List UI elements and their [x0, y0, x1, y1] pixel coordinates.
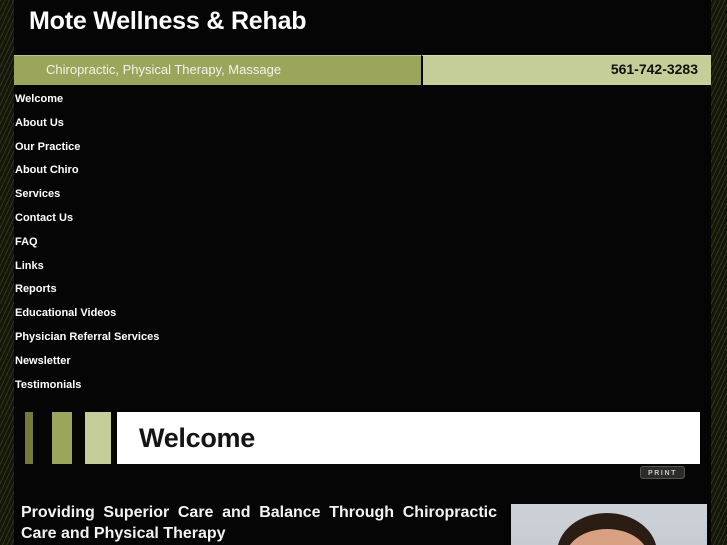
accent-bar-light [85, 412, 111, 464]
nav-item-contact-us[interactable]: Contact Us [14, 211, 294, 235]
intro-heading: Providing Superior Care and Balance Thro… [21, 502, 497, 544]
accent-bar-dark [25, 412, 33, 464]
intro-heading-line1: Providing Superior Care and Balance Thro… [21, 504, 394, 521]
tagline-bar: Chiropractic, Physical Therapy, Massage [14, 55, 421, 85]
right-edge-texture [711, 0, 727, 545]
site-header: Mote Wellness & Rehab [14, 0, 711, 50]
nav-item-welcome[interactable]: Welcome [14, 92, 294, 116]
nav-item-about-us[interactable]: About Us [14, 116, 294, 140]
nav-item-about-chiro[interactable]: About Chiro [14, 163, 294, 187]
tagline-text: Chiropractic, Physical Therapy, Massage [46, 62, 281, 77]
nav-item-testimonials[interactable]: Testimonials [14, 378, 294, 402]
nav-item-reports[interactable]: Reports [14, 282, 294, 306]
nav-item-faq[interactable]: FAQ [14, 235, 294, 259]
content-column: Mote Wellness & Rehab Chiropractic, Phys… [14, 0, 711, 545]
print-row: PRINT [14, 465, 711, 483]
doctor-portrait-image [511, 504, 707, 545]
nav-item-links[interactable]: Links [14, 259, 294, 283]
nav-item-our-practice[interactable]: Our Practice [14, 140, 294, 164]
nav-item-services[interactable]: Services [14, 187, 294, 211]
page-heading-banner: Welcome [14, 412, 711, 464]
print-button[interactable]: PRINT [640, 466, 685, 479]
page-root: Mote Wellness & Rehab Chiropractic, Phys… [0, 0, 727, 545]
left-edge-texture [0, 0, 14, 545]
page-title: Welcome [139, 423, 255, 454]
nav-item-newsletter[interactable]: Newsletter [14, 354, 294, 378]
phone-number[interactable]: 561-742-3283 [611, 61, 698, 77]
main-navigation: Welcome About Us Our Practice About Chir… [14, 92, 294, 401]
site-title: Mote Wellness & Rehab [29, 7, 306, 36]
accent-bar-mid [52, 412, 72, 464]
page-title-box: Welcome [117, 412, 700, 464]
tagline-phone-bar: Chiropractic, Physical Therapy, Massage … [14, 55, 711, 85]
nav-item-physician-referral-services[interactable]: Physician Referral Services [14, 330, 294, 354]
nav-item-educational-videos[interactable]: Educational Videos [14, 306, 294, 330]
body-content: Providing Superior Care and Balance Thro… [14, 495, 711, 545]
phone-bar: 561-742-3283 [421, 55, 711, 85]
